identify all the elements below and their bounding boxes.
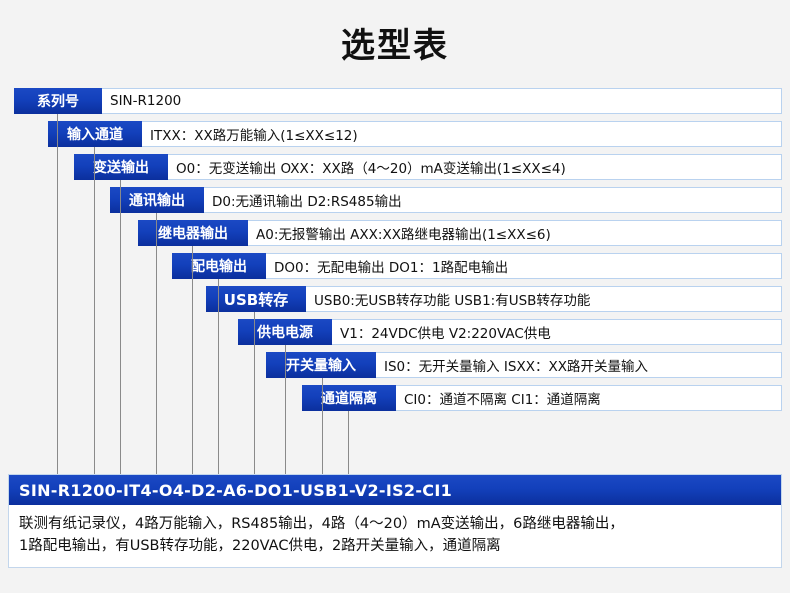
rows-container: 系列号 SIN-R1200 输入通道 ITXX：XX路万能输入(1≤XX≤12)… [0, 88, 790, 418]
row-value-channel-isolation: CI0：通道不隔离 CI1：通道隔离 [396, 385, 782, 411]
row-value-usb-storage: USB0:无USB转存功能 USB1:有USB转存功能 [306, 286, 782, 312]
row-value-switch-input: IS0：无开关量输入 ISXX：XX路开关量输入 [376, 352, 782, 378]
connector-line-10 [348, 411, 349, 474]
table-row: USB转存 USB0:无USB转存功能 USB1:有USB转存功能 [0, 286, 790, 312]
connector-line-9 [322, 378, 323, 474]
row-tag-power-distribution-output: 配电输出 [172, 253, 266, 279]
result-description-line-2: 1路配电输出，有USB转存功能，220VAC供电，2路开关量输入，通道隔离 [19, 535, 771, 557]
result-model-code: SIN-R1200-IT4-O4-D2-A6-DO1-USB1-V2-IS2-C… [9, 475, 781, 505]
row-tag-usb-storage: USB转存 [206, 286, 306, 312]
connector-line-2 [94, 147, 95, 474]
row-tag-channel-isolation: 通道隔离 [302, 385, 396, 411]
table-row: 开关量输入 IS0：无开关量输入 ISXX：XX路开关量输入 [0, 352, 790, 378]
connector-line-7 [254, 312, 255, 474]
table-row: 供电电源 V1：24VDC供电 V2:220VAC供电 [0, 319, 790, 345]
table-row: 系列号 SIN-R1200 [0, 88, 790, 114]
row-value-power-supply: V1：24VDC供电 V2:220VAC供电 [332, 319, 782, 345]
table-row: 输入通道 ITXX：XX路万能输入(1≤XX≤12) [0, 121, 790, 147]
result-panel: SIN-R1200-IT4-O4-D2-A6-DO1-USB1-V2-IS2-C… [8, 474, 782, 568]
row-tag-switch-input: 开关量输入 [266, 352, 376, 378]
row-value-comm-output: D0:无通讯输出 D2:RS485输出 [204, 187, 782, 213]
table-row: 变送输出 O0：无变送输出 OXX：XX路（4～20）mA变送输出(1≤XX≤4… [0, 154, 790, 180]
connector-line-1 [57, 114, 58, 474]
connector-line-8 [285, 345, 286, 474]
row-value-series: SIN-R1200 [102, 88, 782, 114]
table-row: 通讯输出 D0:无通讯输出 D2:RS485输出 [0, 187, 790, 213]
row-tag-power-supply: 供电电源 [238, 319, 332, 345]
row-tag-comm-output: 通讯输出 [110, 187, 204, 213]
row-value-relay-output: A0:无报警输出 AXX:XX路继电器输出(1≤XX≤6) [248, 220, 782, 246]
connector-line-6 [218, 279, 219, 474]
row-value-input-channel: ITXX：XX路万能输入(1≤XX≤12) [142, 121, 782, 147]
row-tag-series: 系列号 [14, 88, 102, 114]
row-tag-transmitter-output: 变送输出 [74, 154, 168, 180]
connector-line-4 [156, 213, 157, 474]
table-row: 继电器输出 A0:无报警输出 AXX:XX路继电器输出(1≤XX≤6) [0, 220, 790, 246]
table-row: 通道隔离 CI0：通道不隔离 CI1：通道隔离 [0, 385, 790, 411]
result-description: 联测有纸记录仪，4路万能输入，RS485输出，4路（4～20）mA变送输出，6路… [9, 505, 781, 567]
selection-table-page: 选型表 系列号 SIN-R1200 输入通道 ITXX：XX路万能输入(1≤XX… [0, 0, 790, 593]
row-value-transmitter-output: O0：无变送输出 OXX：XX路（4～20）mA变送输出(1≤XX≤4) [168, 154, 782, 180]
table-row: 配电输出 DO0：无配电输出 DO1：1路配电输出 [0, 253, 790, 279]
row-tag-relay-output: 继电器输出 [138, 220, 248, 246]
result-description-line-1: 联测有纸记录仪，4路万能输入，RS485输出，4路（4～20）mA变送输出，6路… [19, 513, 771, 535]
connector-line-3 [120, 180, 121, 474]
page-title: 选型表 [0, 18, 790, 67]
connector-line-5 [192, 246, 193, 474]
row-tag-input-channel: 输入通道 [48, 121, 142, 147]
row-value-power-distribution-output: DO0：无配电输出 DO1：1路配电输出 [266, 253, 782, 279]
